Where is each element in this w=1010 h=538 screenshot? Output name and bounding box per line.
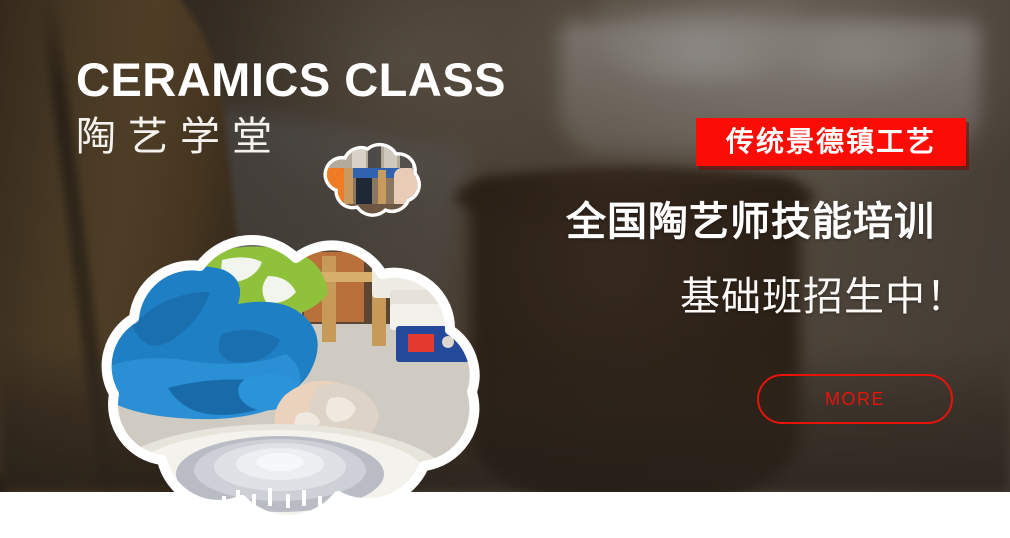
page-title-chinese: 陶艺学堂 xyxy=(76,114,284,160)
subheading-primary: 全国陶艺师技能培训 xyxy=(566,202,935,242)
more-button-label: MORE xyxy=(825,390,885,408)
cloud-photo-large-content xyxy=(72,238,528,538)
cloud-photo-large xyxy=(72,238,528,508)
status-badge-label: 传统景德镇工艺 xyxy=(726,128,936,156)
page-title-english: CERAMICS CLASS xyxy=(76,56,506,103)
cloud-thumbnail-small xyxy=(316,138,424,218)
ceramics-class-banner: CERAMICS CLASS 陶艺学堂 xyxy=(0,0,1010,538)
cloud-shape-large xyxy=(72,238,528,508)
more-button[interactable]: MORE xyxy=(757,374,953,424)
cloud-shape-small xyxy=(316,138,424,218)
status-badge: 传统景德镇工艺 xyxy=(696,118,966,166)
subheading-secondary: 基础班招生中！ xyxy=(680,277,967,317)
cloud-photo-small-content xyxy=(316,138,424,218)
